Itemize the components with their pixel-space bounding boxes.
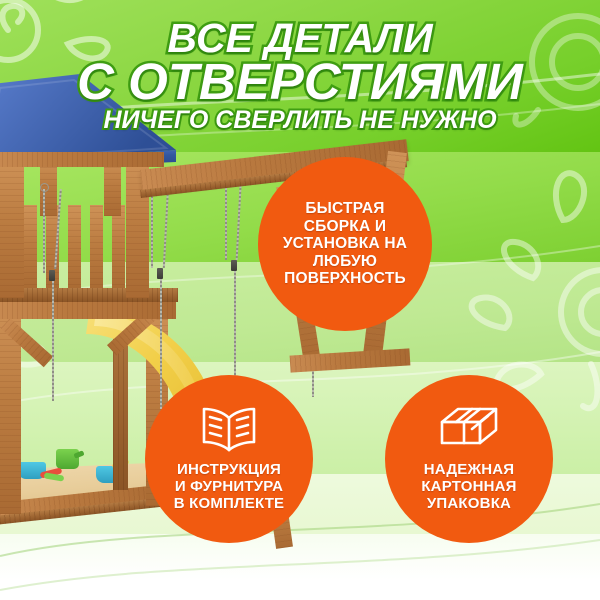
tower-lower-beam (0, 300, 176, 319)
background-band-6 (0, 534, 600, 600)
package-box-icon (438, 406, 500, 452)
swing-clip-3 (231, 260, 237, 271)
swing-clip-1 (49, 270, 55, 281)
swing-chain-1a (43, 189, 45, 273)
tower-deck-edge (0, 288, 178, 302)
feature-badge-fast-assembly-text: БЫСТРАЯ СБОРКА И УСТАНОВКА НА ЛЮБУЮ ПОВЕ… (283, 200, 407, 288)
tower-top-rail (0, 152, 164, 167)
feature-badge-fast-assembly[interactable]: БЫСТРАЯ СБОРКА И УСТАНОВКА НА ЛЮБУЮ ПОВЕ… (258, 157, 432, 331)
promo-banner: ВСЕ ДЕТАЛИ С ОТВЕРСТИЯМИ НИЧЕГО СВЕРЛИТЬ… (0, 0, 600, 600)
headline-line-3: НИЧЕГО СВЕРЛИТЬ НЕ НУЖНО (0, 108, 600, 133)
swing-ring-1 (40, 183, 49, 192)
swing-chain-2a (151, 186, 153, 268)
feature-badge-instructions-included-text: ИНСТРУКЦИЯ И ФУРНИТУРА В КОМПЛЕКТЕ (174, 461, 285, 512)
swing-chain-1c (52, 281, 54, 401)
swing-chain-2c (160, 279, 162, 409)
swing-clip-2 (157, 268, 163, 279)
feature-badge-instructions-included[interactable]: ИНСТРУКЦИЯ И ФУРНИТУРА В КОМПЛЕКТЕ (145, 375, 313, 543)
open-book-icon (199, 406, 259, 452)
tower-upper-post-left (0, 158, 24, 298)
headline-line-2: С ОТВЕРСТИЯМИ (0, 56, 600, 107)
feature-badge-cardboard-packaging-text: НАДЕЖНАЯ КАРТОННАЯ УПАКОВКА (421, 461, 516, 512)
feature-badge-cardboard-packaging[interactable]: НАДЕЖНАЯ КАРТОННАЯ УПАКОВКА (385, 375, 553, 543)
